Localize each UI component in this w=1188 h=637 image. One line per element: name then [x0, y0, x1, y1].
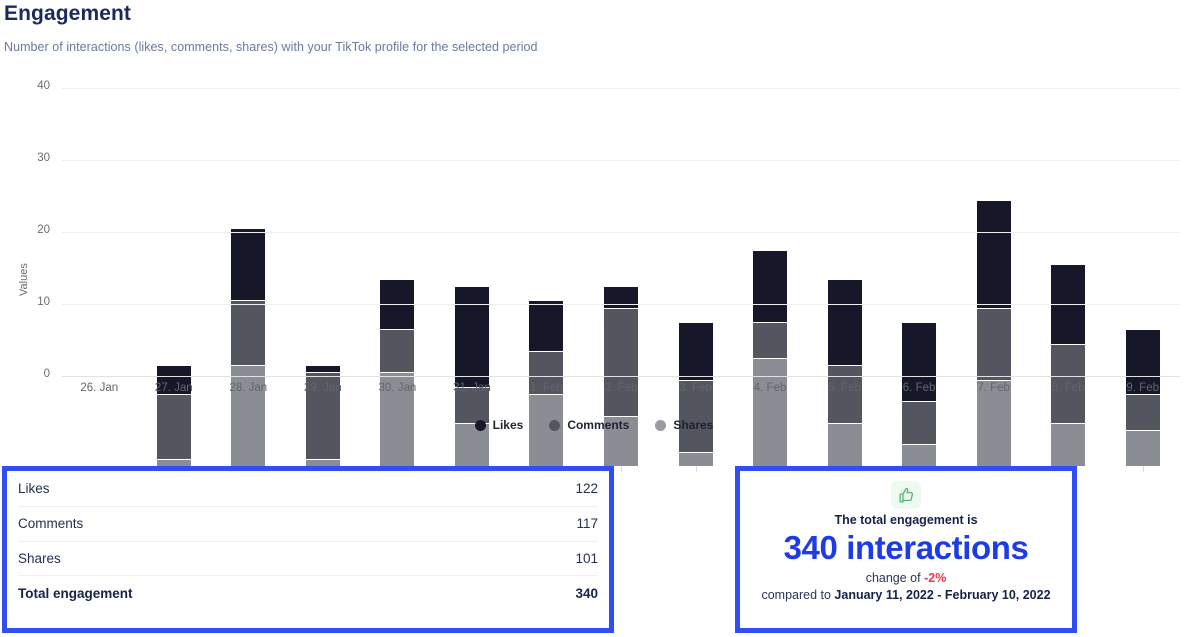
stat-lead-text: The total engagement is — [834, 513, 977, 527]
stacked-bar[interactable] — [156, 365, 192, 466]
table-row: Likes122 — [18, 471, 598, 507]
table-cell-label: Shares — [18, 551, 61, 566]
bar-segment-shares[interactable] — [901, 444, 937, 466]
bar-segment-shares[interactable] — [156, 459, 192, 466]
bar-segment-shares[interactable] — [1125, 430, 1161, 466]
x-axis-label: 31. Jan — [435, 382, 510, 394]
legend-label: Shares — [673, 418, 713, 432]
legend-item-shares[interactable]: Shares — [655, 418, 713, 432]
table-cell-value: 122 — [575, 481, 598, 496]
bar-segment-likes[interactable] — [976, 200, 1012, 308]
bar-segment-shares[interactable] — [752, 358, 788, 466]
gridline — [62, 160, 1180, 161]
bar-segment-comments[interactable] — [230, 300, 266, 365]
total-interactions-value: 340 interactions — [784, 529, 1029, 567]
x-axis-label: 2. Feb — [584, 382, 659, 394]
x-axis-label: 8. Feb — [1031, 382, 1106, 394]
table-cell-label: Likes — [18, 481, 50, 496]
stacked-bar[interactable] — [901, 322, 937, 466]
x-axis-label: 3. Feb — [658, 382, 733, 394]
table-cell-value: 117 — [576, 516, 598, 531]
x-axis-label: 30. Jan — [360, 382, 435, 394]
y-axis-tick: 40 — [6, 80, 50, 92]
x-axis-label: 27. Jan — [137, 382, 212, 394]
stacked-bar[interactable] — [1050, 264, 1086, 466]
stacked-bar[interactable] — [752, 250, 788, 466]
stacked-bar[interactable] — [1125, 329, 1161, 466]
change-prefix: change of — [866, 571, 924, 585]
stacked-bar[interactable] — [678, 322, 714, 466]
x-axis-label: 7. Feb — [956, 382, 1031, 394]
chart-plot-area: 010203040 — [62, 88, 1180, 466]
legend-swatch-comments-icon — [549, 420, 560, 431]
change-value: -2% — [924, 571, 946, 585]
x-axis-label: 26. Jan — [62, 382, 137, 394]
bar-segment-shares[interactable] — [230, 365, 266, 466]
x-axis-label: 5. Feb — [807, 382, 882, 394]
bar-segment-likes[interactable] — [454, 286, 490, 387]
legend-swatch-shares-icon — [655, 420, 666, 431]
stacked-bar[interactable] — [305, 365, 341, 466]
x-axis-label: 28. Jan — [211, 382, 286, 394]
y-axis-tick: 10 — [6, 296, 50, 308]
bar-segment-likes[interactable] — [305, 365, 341, 372]
table-row: Shares101 — [18, 542, 598, 577]
x-axis-label: 1. Feb — [509, 382, 584, 394]
bar-segment-shares[interactable] — [305, 459, 341, 466]
bar-segment-likes[interactable] — [678, 322, 714, 380]
legend-label: Comments — [567, 418, 629, 432]
bar-segment-comments[interactable] — [976, 308, 1012, 380]
bar-segment-shares[interactable] — [678, 452, 714, 466]
bar-segment-comments[interactable] — [379, 329, 415, 372]
page-subtitle: Number of interactions (likes, comments,… — [4, 40, 538, 54]
bar-segment-likes[interactable] — [230, 228, 266, 300]
x-axis-label: 29. Jan — [286, 382, 361, 394]
gridline — [62, 304, 1180, 305]
x-axis-tick — [696, 466, 697, 472]
bar-segment-comments[interactable] — [603, 308, 639, 416]
chart-legend: LikesCommentsShares — [0, 418, 1188, 432]
y-axis-tick: 0 — [6, 368, 50, 380]
x-axis-label: 6. Feb — [882, 382, 957, 394]
legend-label: Likes — [493, 418, 524, 432]
bar-segment-likes[interactable] — [827, 279, 863, 365]
change-line: change of -2% — [866, 571, 947, 585]
stacked-bar[interactable] — [827, 279, 863, 466]
total-engagement-card: The total engagement is 340 interactions… — [735, 466, 1077, 633]
legend-item-likes[interactable]: Likes — [475, 418, 524, 432]
compare-line: compared to January 11, 2022 - February … — [761, 588, 1050, 602]
table-cell-label: Comments — [18, 516, 83, 531]
x-axis-labels: 26. Jan27. Jan28. Jan29. Jan30. Jan31. J… — [62, 382, 1180, 394]
page-title: Engagement — [4, 2, 131, 26]
compare-range: January 11, 2022 - February 10, 2022 — [834, 588, 1050, 602]
compare-prefix: compared to — [761, 588, 834, 602]
bar-segment-likes[interactable] — [752, 250, 788, 322]
bar-segment-comments[interactable] — [827, 365, 863, 423]
summary-table-card: Likes122Comments117Shares101Total engage… — [2, 466, 614, 633]
x-axis-label: 9. Feb — [1105, 382, 1180, 394]
legend-swatch-likes-icon — [475, 420, 486, 431]
engagement-page: Engagement Number of interactions (likes… — [0, 0, 1188, 637]
engagement-chart: Values 010203040 26. Jan27. Jan28. Jan29… — [0, 78, 1188, 448]
x-axis-label: 4. Feb — [733, 382, 808, 394]
y-axis-title: Values — [18, 263, 30, 296]
bar-segment-likes[interactable] — [528, 300, 564, 350]
table-cell-value: 340 — [575, 586, 598, 601]
gridline — [62, 376, 1180, 377]
gridline — [62, 88, 1180, 89]
stacked-bar[interactable] — [379, 279, 415, 466]
y-axis-tick: 20 — [6, 224, 50, 236]
summary-table: Likes122Comments117Shares101Total engage… — [7, 471, 609, 611]
legend-item-comments[interactable]: Comments — [549, 418, 629, 432]
table-row: Comments117 — [18, 507, 598, 542]
x-axis-tick — [1143, 466, 1144, 472]
table-row-total: Total engagement340 — [18, 576, 598, 611]
table-cell-label: Total engagement — [18, 586, 133, 601]
table-cell-value: 101 — [575, 551, 598, 566]
gridline — [62, 232, 1180, 233]
bar-segment-comments[interactable] — [752, 322, 788, 358]
y-axis-tick: 30 — [6, 152, 50, 164]
thumbs-up-icon — [891, 481, 921, 509]
x-axis-tick — [621, 466, 622, 472]
